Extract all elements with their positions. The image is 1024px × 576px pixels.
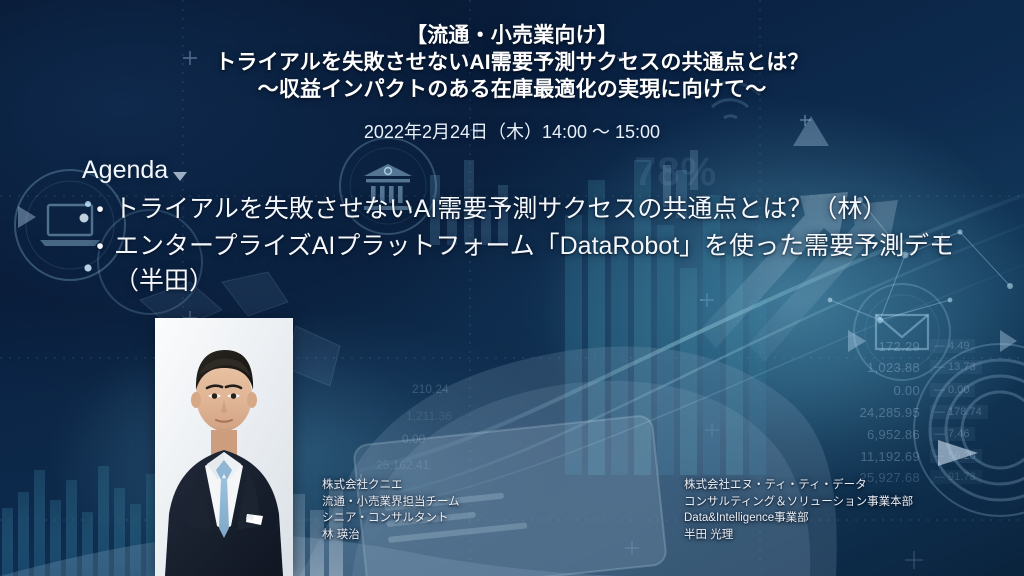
credit-line: 株式会社エヌ・ティ・ティ・データ: [684, 477, 913, 494]
credit-line: Data&Intelligence事業部: [684, 510, 913, 527]
bg-faint-number: 25,162.41: [376, 458, 429, 472]
list-item: • エンタープライズAIプラットフォーム「DataRobot」を使った需要予測デ…: [86, 229, 986, 299]
concentric-circles-icon: [914, 344, 1024, 516]
bg-ticker-delta: — 7.46: [930, 427, 975, 441]
list-item: • トライアルを失敗させないAI需要予測サクセスの共通点とは？（林）: [86, 192, 986, 227]
bg-percent-label: 78%: [634, 150, 717, 195]
bg-faint-number: 210.24: [412, 382, 449, 396]
speaker-portrait-photo: [155, 318, 293, 576]
bg-ticker-delta: — 4.49: [930, 339, 975, 353]
credit-line: 半田 光理: [684, 527, 913, 544]
speaker-credit-right: 株式会社エヌ・ティ・ティ・データ コンサルティング＆ソリューション事業本部 Da…: [684, 477, 913, 543]
event-datetime: 2022年2月24日（木）14:00 〜 15:00: [0, 118, 1024, 144]
bg-ticker-value: 1,023.88: [867, 360, 920, 375]
bg-ticker-delta: — 13.73: [930, 360, 982, 374]
bullet-icon: •: [86, 192, 114, 227]
agenda-list: • トライアルを失敗させないAI需要予測サクセスの共通点とは？（林） • エンタ…: [86, 192, 986, 301]
bg-ticker-value: 0.00: [893, 383, 920, 398]
agenda-item-label: エンタープライズAIプラットフォーム「DataRobot」を使った需要予測デモ（…: [114, 229, 986, 299]
agenda-heading: Agenda: [82, 156, 168, 185]
bg-ticker-delta: — 0.00: [930, 383, 975, 397]
credit-line: 林 瑛治: [322, 527, 460, 544]
title-line-3: 〜収益インパクトのある在庫最適化の実現に向けて〜: [0, 76, 1024, 103]
bg-faint-number: 0.00: [402, 432, 425, 446]
bg-faint-number: 1,211.36: [406, 409, 452, 423]
bullet-icon: •: [86, 229, 114, 264]
caret-down-icon: [173, 172, 187, 181]
title-line-2: トライアルを失敗させないAI需要予測サクセスの共通点とは？: [0, 49, 1024, 76]
title-line-1: 【流通・小売業向け】: [0, 22, 1024, 49]
bg-ticker-delta: — 91.73: [930, 470, 982, 484]
bg-ticker-value: 6,952.86: [867, 427, 920, 442]
bg-ticker-delta: — 56.20: [930, 449, 982, 463]
credit-line: 流通・小売業界担当チーム: [322, 494, 460, 511]
bg-ticker-delta: — 178.74: [930, 405, 988, 419]
credit-line: 株式会社クニエ: [322, 477, 460, 494]
bg-ticker-value: 11,192.69: [860, 449, 920, 464]
portrait-illustration: [155, 318, 293, 576]
agenda-item-label: トライアルを失敗させないAI需要予測サクセスの共通点とは？（林）: [114, 192, 986, 227]
bg-ticker-value: 172.29: [878, 339, 920, 354]
credit-line: シニア・コンサルタント: [322, 510, 460, 527]
credit-line: コンサルティング＆ソリューション事業本部: [684, 494, 913, 511]
page-title: 【流通・小売業向け】 トライアルを失敗させないAI需要予測サクセスの共通点とは？…: [0, 22, 1024, 103]
speaker-credit-left: 株式会社クニエ 流通・小売業界担当チーム シニア・コンサルタント 林 瑛治: [322, 477, 460, 543]
presentation-slide: 172.29 — 4.49 1,023.88 — 13.73 0.00 — 0.…: [0, 0, 1024, 576]
bg-ticker-value: 24,285.95: [859, 405, 920, 420]
